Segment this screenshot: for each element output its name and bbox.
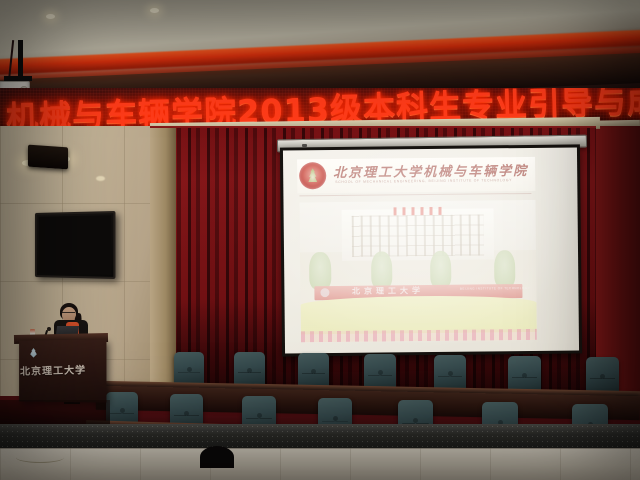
photo-tree — [494, 251, 516, 288]
stage-front-tile-lines — [0, 448, 640, 480]
bit-university-seal-icon — [299, 162, 326, 189]
ceiling-downlight — [46, 14, 55, 19]
ceiling-downlight — [150, 8, 159, 13]
auditorium-chair[interactable] — [364, 354, 396, 390]
photo-main-building — [342, 209, 494, 261]
auditorium-chair[interactable] — [508, 356, 541, 393]
photo-sign-emblem — [321, 288, 330, 297]
photo-tree — [430, 251, 452, 288]
stage-edge-granite — [0, 424, 640, 450]
photo-tree — [371, 252, 393, 289]
slide-campus-photo: 北京理工大学 BEIJING INSTITUTE OF TECHNOLOGY — [299, 200, 536, 342]
monitor-screen — [39, 215, 112, 275]
auditorium-chair[interactable] — [174, 352, 204, 386]
speaker-glasses — [62, 312, 75, 317]
ceiling — [0, 0, 640, 92]
stage-front-panel — [0, 448, 640, 480]
photo-flower-bed — [301, 329, 537, 343]
projection-screen: 北京理工大学机械与车辆学院 SCHOOL OF MECHANICAL ENGIN… — [283, 147, 579, 353]
granite-texture — [0, 424, 640, 450]
auditorium-chair[interactable] — [434, 355, 466, 391]
auditorium-chair[interactable] — [586, 357, 619, 394]
photo-sign-text-en: BEIJING INSTITUTE OF TECHNOLOGY — [460, 286, 530, 291]
wall-mounted-monitor[interactable] — [35, 211, 116, 279]
slide-header-band: 北京理工大学机械与车辆学院 SCHOOL OF MECHANICAL ENGIN… — [297, 157, 535, 193]
photo-tree — [309, 252, 331, 289]
slide-header-divider — [299, 193, 531, 196]
auditorium-chair[interactable] — [234, 352, 265, 387]
wall-light-reflection — [96, 176, 105, 181]
auditorium-chair[interactable] — [298, 353, 329, 388]
slide-header-title-en: SCHOOL OF MECHANICAL ENGINEERING, BEIJIN… — [335, 178, 512, 184]
auditorium-scene: 机械与车辆学院2013级本科生专业引导与成长发展 北京理工大学机械与车辆学院 S… — [0, 0, 640, 480]
projector-mount-arm — [18, 40, 23, 80]
podium-label: 北京理工大学 — [20, 361, 86, 377]
microphone-head — [47, 327, 51, 331]
photo-flags — [394, 206, 446, 215]
wall-speaker — [28, 145, 68, 170]
audience-head-silhouette — [200, 446, 234, 468]
floor-cable — [16, 452, 64, 463]
